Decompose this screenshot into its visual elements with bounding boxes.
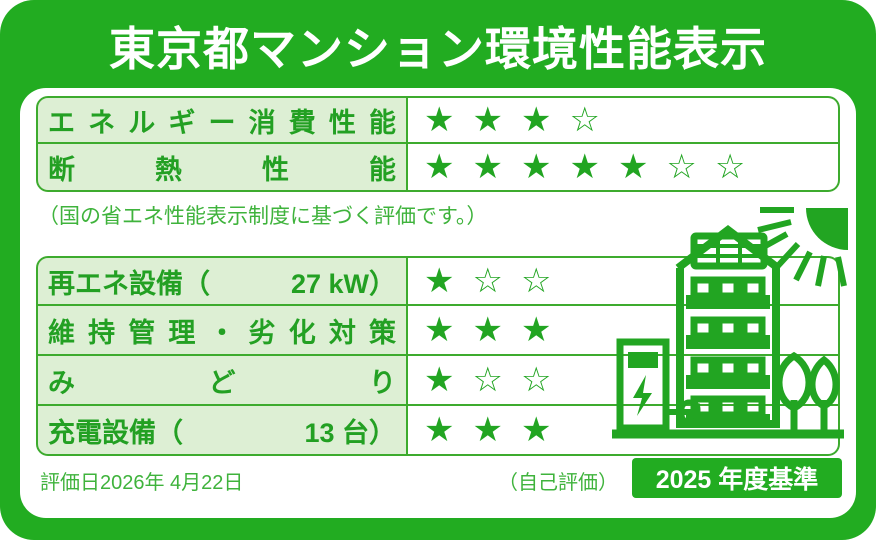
label-text: エネルギー消費性能 [48, 101, 396, 140]
label-char: ル [128, 101, 155, 140]
standard-year-badge: 2025 年度基準 [632, 458, 842, 498]
star-filled-icon: ★ [472, 313, 502, 347]
row-label-greenery: みどり [36, 356, 408, 406]
label-char: 劣 [249, 311, 276, 350]
label-suffix: ） [369, 262, 396, 301]
star-filled-icon: ★ [472, 413, 502, 447]
national-ratings-table: エネルギー消費性能 ★★★☆ 断熱性能 ★★★★★☆☆ [36, 96, 840, 192]
star-filled-icon: ★ [424, 103, 454, 137]
label-suffix: ） [369, 411, 396, 450]
label-char: 費 [289, 101, 316, 140]
label-text: 断熱性能 [48, 148, 396, 187]
label-char: み [48, 361, 75, 400]
star-filled-icon: ★ [424, 150, 454, 184]
label-prefix: 再エネ設備（ [48, 262, 210, 301]
row-label-energy-consumption: エネルギー消費性能 [36, 96, 408, 144]
rating-stars-insulation: ★★★★★☆☆ [408, 144, 840, 192]
label-char: 能 [369, 101, 396, 140]
rating-stars-energy-consumption: ★★★☆ [408, 96, 840, 144]
label-char: 管 [128, 311, 155, 350]
label-char: 能 [369, 148, 396, 187]
star-filled-icon: ★ [521, 103, 551, 137]
table-row-insulation: 断熱性能 ★★★★★☆☆ [36, 144, 840, 192]
star-filled-icon: ★ [521, 313, 551, 347]
table-row-energy-consumption: エネルギー消費性能 ★★★☆ [36, 96, 840, 144]
star-empty-icon: ☆ [521, 363, 551, 397]
label-char: り [369, 361, 396, 400]
row-label-maintenance: 維持管理・劣化対策 [36, 306, 408, 356]
eco-apartment-illustration [608, 200, 848, 448]
label-char: 性 [329, 101, 356, 140]
label-char: ・ [209, 311, 236, 350]
national-section-note: （国の省エネ性能表示制度に基づく評価です。） [38, 200, 487, 230]
star-filled-icon: ★ [472, 103, 502, 137]
evaluation-date: 評価日2026年 4月22日 [40, 466, 243, 495]
label-text: 維持管理・劣化対策 [48, 311, 396, 350]
label-char: 消 [249, 101, 276, 140]
label-char: 化 [289, 311, 316, 350]
star-filled-icon: ★ [472, 150, 502, 184]
star-filled-icon: ★ [424, 313, 454, 347]
star-empty-icon: ☆ [715, 150, 745, 184]
label-value: 13 台 [183, 411, 369, 450]
star-filled-icon: ★ [618, 150, 648, 184]
row-label-insulation: 断熱性能 [36, 144, 408, 192]
label-char: ー [209, 101, 236, 140]
star-filled-icon: ★ [569, 150, 599, 184]
inner-panel: エネルギー消費性能 ★★★☆ 断熱性能 ★★★★★☆☆ （国の省エネ性能表示制度… [20, 88, 856, 518]
label-char: ギ [168, 101, 195, 140]
self-assessment-note: （自己評価） [498, 466, 618, 495]
star-filled-icon: ★ [521, 413, 551, 447]
label-char: ネ [88, 101, 115, 140]
star-empty-icon: ☆ [569, 103, 599, 137]
star-empty-icon: ☆ [666, 150, 696, 184]
title-bar: 東京都マンション環境性能表示 [0, 6, 876, 86]
label-char: 策 [369, 311, 396, 350]
star-filled-icon: ★ [424, 413, 454, 447]
label-char: エ [48, 101, 75, 140]
label-char: 対 [329, 311, 356, 350]
star-filled-icon: ★ [424, 363, 454, 397]
page-title: 東京都マンション環境性能表示 [109, 13, 767, 79]
label-char: 維 [48, 311, 75, 350]
label-char: 持 [88, 311, 115, 350]
label-text: みどり [48, 361, 396, 400]
row-label-charging-equipment: 充電設備（ 13 台 ） [36, 406, 408, 456]
row-label-renewable-energy: 再エネ設備（ 27 kW ） [36, 256, 408, 306]
label-char: 熱 [155, 148, 182, 187]
label-char: 断 [48, 148, 75, 187]
star-filled-icon: ★ [424, 264, 454, 298]
label-prefix: 充電設備（ [48, 411, 183, 450]
star-empty-icon: ☆ [521, 264, 551, 298]
label-char: 性 [262, 148, 289, 187]
label-char: ど [209, 361, 236, 400]
star-empty-icon: ☆ [472, 363, 502, 397]
label-char: 理 [168, 311, 195, 350]
label-value: 27 kW [210, 269, 369, 300]
star-filled-icon: ★ [521, 150, 551, 184]
environmental-performance-label: 東京都マンション環境性能表示 エネルギー消費性能 ★★★☆ 断熱性能 ★★★★★… [0, 0, 876, 540]
star-empty-icon: ☆ [472, 264, 502, 298]
